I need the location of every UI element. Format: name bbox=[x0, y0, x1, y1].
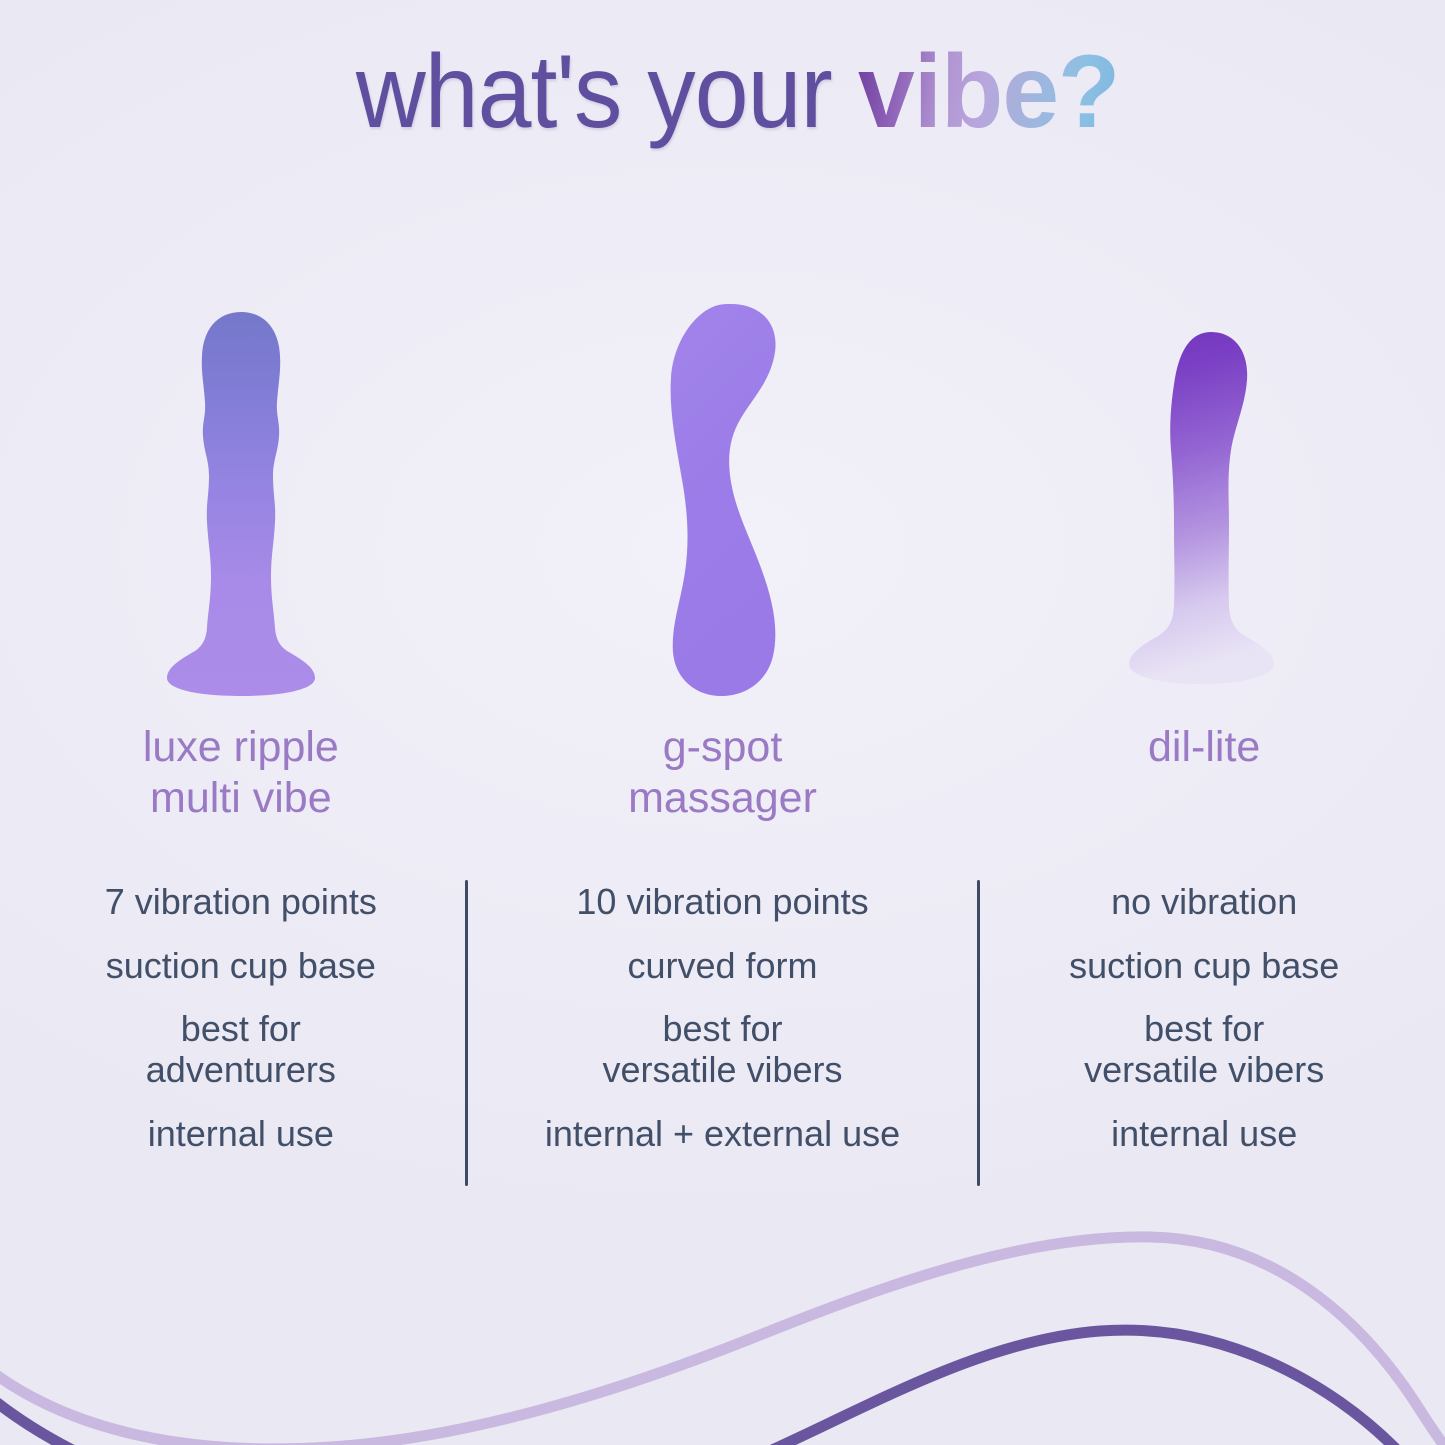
decorative-wave-band bbox=[0, 1205, 1445, 1445]
wave-mid bbox=[0, 1330, 1445, 1445]
feature-line: internal + external use bbox=[482, 1114, 964, 1155]
product-name-g-spot: g-spot massager bbox=[482, 716, 964, 836]
feature-line: internal use bbox=[963, 1114, 1445, 1155]
feature-line: versatile vibers bbox=[482, 1050, 964, 1091]
luxe-ripple-product-icon bbox=[161, 310, 321, 700]
product-name-row: luxe ripple multi vibe g-spot massager d… bbox=[0, 716, 1445, 836]
feature-item: suction cup base bbox=[0, 946, 482, 987]
product-image-cell-luxe-ripple[interactable] bbox=[0, 280, 482, 700]
feature-line: suction cup base bbox=[0, 946, 482, 987]
product-name-line: massager bbox=[482, 773, 964, 824]
feature-comparison-row: 7 vibration points suction cup base best… bbox=[0, 872, 1445, 1202]
product-name-line: dil-lite bbox=[963, 722, 1445, 773]
feature-item: internal use bbox=[963, 1114, 1445, 1155]
feature-item: 7 vibration points bbox=[0, 882, 482, 923]
feature-line: 10 vibration points bbox=[482, 882, 964, 923]
title-light-part: what's your bbox=[356, 40, 832, 144]
product-image-cell-g-spot[interactable] bbox=[482, 280, 964, 700]
product-image-row bbox=[0, 280, 1445, 700]
feature-line: suction cup base bbox=[963, 946, 1445, 987]
feature-item: best for versatile vibers bbox=[963, 1009, 1445, 1090]
feature-item: internal + external use bbox=[482, 1114, 964, 1155]
feature-line: curved form bbox=[482, 946, 964, 987]
product-name-dil-lite: dil-lite bbox=[963, 716, 1445, 836]
feature-line: best for bbox=[482, 1009, 964, 1050]
feature-item: suction cup base bbox=[963, 946, 1445, 987]
wave-light bbox=[0, 1237, 1445, 1445]
feature-item: best for adventurers bbox=[0, 1009, 482, 1090]
feature-item: no vibration bbox=[963, 882, 1445, 923]
feature-item: best for versatile vibers bbox=[482, 1009, 964, 1090]
g-spot-massager-product-icon bbox=[633, 300, 813, 700]
feature-item: 10 vibration points bbox=[482, 882, 964, 923]
product-name-line: luxe ripple bbox=[0, 722, 482, 773]
feature-line: best for bbox=[0, 1009, 482, 1050]
feature-line: no vibration bbox=[963, 882, 1445, 923]
product-name-line: g-spot bbox=[482, 722, 964, 773]
feature-column-g-spot: 10 vibration points curved form best for… bbox=[482, 872, 964, 1202]
feature-line: best for bbox=[963, 1009, 1445, 1050]
product-name-luxe-ripple: luxe ripple multi vibe bbox=[0, 716, 482, 836]
feature-column-dil-lite: no vibration suction cup base best for v… bbox=[963, 872, 1445, 1202]
column-divider-left bbox=[465, 880, 468, 1186]
dil-lite-product-icon bbox=[1119, 330, 1289, 700]
feature-item: curved form bbox=[482, 946, 964, 987]
feature-line: 7 vibration points bbox=[0, 882, 482, 923]
feature-column-luxe-ripple: 7 vibration points suction cup base best… bbox=[0, 872, 482, 1202]
title-bold-part: vibe? bbox=[858, 40, 1119, 144]
feature-item: internal use bbox=[0, 1114, 482, 1155]
product-image-cell-dil-lite[interactable] bbox=[963, 280, 1445, 700]
page-title: what's yourvibe? bbox=[0, 40, 1445, 170]
feature-line: internal use bbox=[0, 1114, 482, 1155]
feature-line: versatile vibers bbox=[963, 1050, 1445, 1091]
feature-line: adventurers bbox=[0, 1050, 482, 1091]
product-name-line: multi vibe bbox=[0, 773, 482, 824]
poster-canvas: what's yourvibe? bbox=[0, 0, 1445, 1445]
